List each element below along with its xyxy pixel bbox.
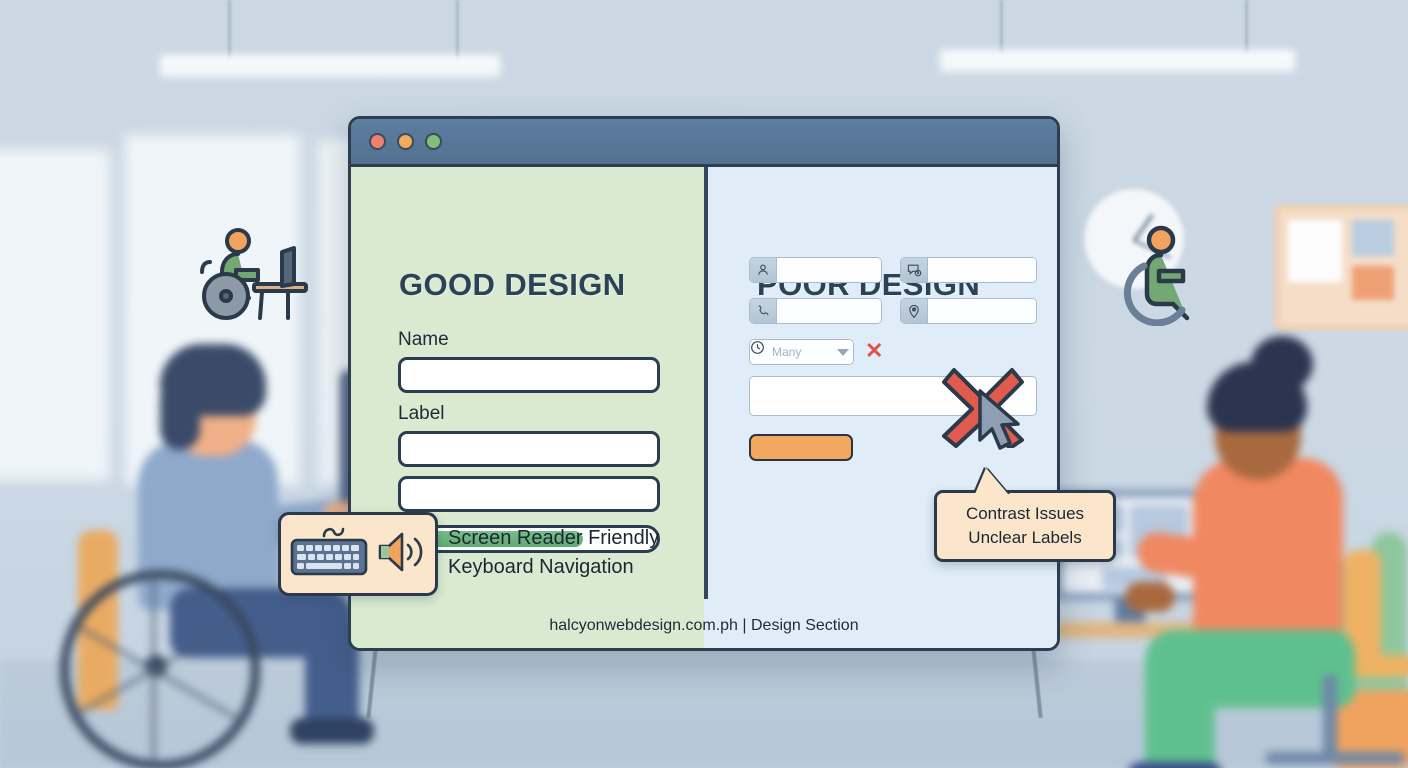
message-input-field[interactable]	[900, 257, 1037, 283]
maximize-dot[interactable]	[425, 133, 442, 150]
speaker-icon	[376, 528, 428, 581]
message-input-value[interactable]	[928, 258, 1036, 282]
callout-line-2: Unclear Labels	[968, 527, 1081, 549]
accessibility-badge-text: Screen Reader Friendly Keyboard Navigati…	[448, 524, 659, 582]
footer: halcyonwebdesign.com.ph | Design Section	[351, 603, 1057, 648]
callout-line-1: Contrast Issues	[966, 503, 1084, 525]
ceiling-light	[160, 55, 500, 77]
select-value-area[interactable]: Many	[765, 340, 853, 364]
contrast-issues-callout: Contrast Issues Unclear Labels	[934, 490, 1116, 562]
light-rod	[228, 0, 231, 62]
person-icon	[750, 258, 777, 282]
board-note	[1288, 220, 1342, 282]
additional-input[interactable]	[398, 476, 660, 512]
a11y-line-2: Keyboard Navigation	[448, 553, 659, 582]
location-pin-icon	[901, 299, 928, 323]
phone-icon	[750, 299, 777, 323]
label-field-label: Label	[398, 403, 445, 425]
light-rod	[1000, 0, 1003, 55]
board-note	[1352, 266, 1394, 300]
location-input-value[interactable]	[928, 299, 1036, 323]
ceiling-light	[940, 50, 1295, 72]
a11y-line-1: Screen Reader Friendly	[448, 524, 659, 553]
location-input-field[interactable]	[900, 298, 1037, 324]
person-input-value[interactable]	[777, 258, 881, 282]
light-rod	[1245, 0, 1248, 55]
error-x-icon: ✕	[865, 338, 883, 364]
label-input[interactable]	[398, 431, 660, 467]
phone-input-value[interactable]	[777, 299, 881, 323]
submit-button[interactable]	[749, 434, 853, 461]
time-select-dropdown[interactable]: Many	[749, 339, 854, 365]
wheelchair-accessibility-icon	[1114, 224, 1220, 326]
select-value: Many	[772, 345, 801, 359]
person-input-field[interactable]	[749, 257, 882, 283]
accessibility-badge	[278, 512, 438, 596]
callout-tail	[975, 468, 1008, 494]
footer-text: halcyonwebdesign.com.ph | Design Section	[549, 617, 858, 635]
minimize-dot[interactable]	[397, 133, 414, 150]
name-field-label: Name	[398, 329, 449, 351]
chevron-down-icon[interactable]	[837, 349, 849, 356]
board-note	[1352, 220, 1394, 256]
wheelchair-user-at-desk-icon	[196, 226, 312, 326]
close-dot[interactable]	[369, 133, 386, 150]
phone-input-field[interactable]	[749, 298, 882, 324]
message-icon	[901, 258, 928, 282]
light-rod	[456, 0, 459, 62]
mouse-cursor-icon	[975, 388, 1027, 454]
clock-icon	[750, 340, 765, 364]
window-titlebar	[351, 119, 1057, 167]
name-input[interactable]	[398, 357, 660, 393]
good-design-title: GOOD DESIGN	[399, 267, 626, 303]
keyboard-icon	[288, 526, 372, 583]
panel-divider	[704, 167, 708, 599]
